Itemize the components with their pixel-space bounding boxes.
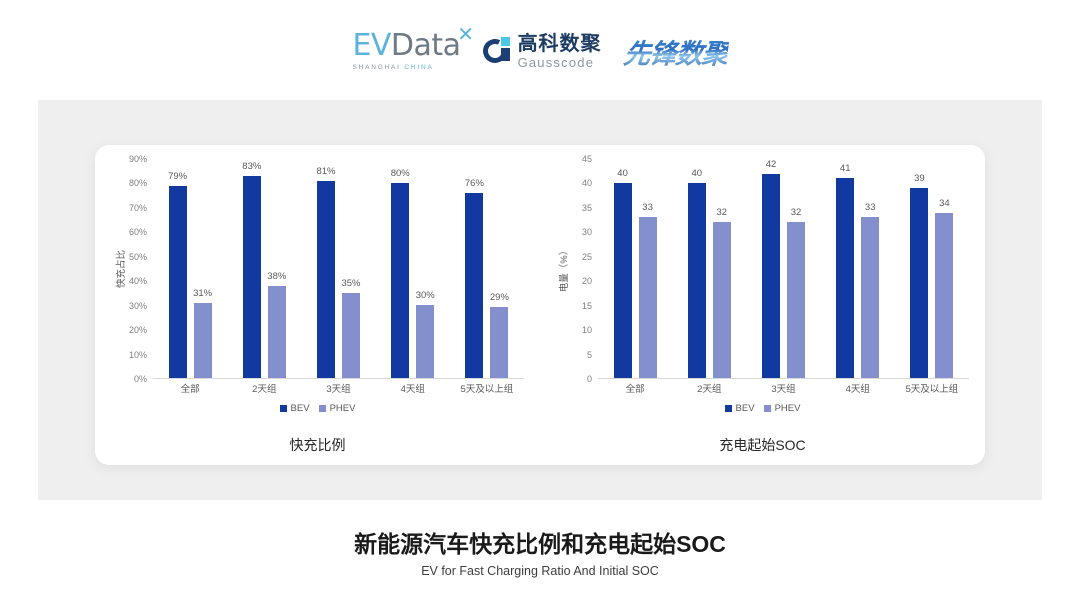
y-axis-tick: 30 (582, 227, 592, 237)
evdata-tagline-country: CHINA (404, 64, 433, 71)
y-axis-tick: 45 (582, 154, 592, 164)
bar-group: 80%30% (376, 159, 450, 378)
y-axis-tick: 20 (582, 276, 592, 286)
legend-left: BEVPHEV (95, 403, 540, 414)
y-axis-tick: 70% (129, 203, 147, 213)
chart-initial-soc: 电量（%） 051015202530354045 403340324232413… (540, 145, 985, 465)
evdata-logo: EVData ✕ SHANGHAI CHINA (352, 31, 460, 71)
bar-value-label: 76% (465, 178, 484, 189)
bar-phev[interactable]: 32 (713, 222, 731, 378)
y-axis-tick: 35 (582, 203, 592, 213)
y-axis-tick: 30% (129, 301, 147, 311)
y-axis-tick: 10% (129, 350, 147, 360)
bar-value-label: 83% (242, 161, 261, 172)
charts-card: 快充占比 0%10%20%30%40%50%60%70%80%90% 79%31… (95, 145, 985, 465)
bar-value-label: 40 (617, 168, 628, 179)
bar-group: 4133 (821, 159, 895, 378)
bar-bev[interactable]: 40 (614, 183, 632, 378)
bar-groups-left: 79%31%83%38%81%35%80%30%76%29% (153, 159, 524, 378)
y-axis-tick: 25 (582, 252, 592, 262)
bar-value-label: 38% (267, 271, 286, 282)
y-axis-tick: 10 (582, 325, 592, 335)
bars-region-left: 79%31%83%38%81%35%80%30%76%29% (153, 159, 524, 379)
x-axis-tick: 3天组 (301, 381, 375, 395)
y-axis-tick: 60% (129, 227, 147, 237)
x-axis-tick: 全部 (153, 381, 227, 395)
bar-bev[interactable]: 80% (391, 183, 409, 378)
gausscode-logo: 高科数聚 Gausscode (483, 34, 602, 69)
gausscode-english-name: Gausscode (518, 56, 602, 69)
page-title: 新能源汽车快充比例和充电起始SOC (0, 525, 1080, 559)
bar-phev[interactable]: 35% (342, 293, 360, 378)
evdata-tagline: SHANGHAI CHINA (352, 64, 433, 71)
y-axis-ticks-right: 051015202530354045 (558, 159, 592, 379)
bar-phev[interactable]: 34 (935, 213, 953, 378)
x-axis-tick: 5天及以上组 (450, 381, 524, 395)
x-axis-tick: 2天组 (672, 381, 746, 395)
bar-value-label: 41 (840, 163, 851, 174)
bar-value-label: 34 (939, 198, 950, 209)
bar-phev[interactable]: 30% (416, 305, 434, 378)
legend-item-phev[interactable]: PHEV (319, 403, 356, 414)
legend-swatch-icon (319, 405, 326, 412)
charts-row: 快充占比 0%10%20%30%40%50%60%70%80%90% 79%31… (95, 145, 985, 465)
legend-swatch-icon (764, 405, 771, 412)
legend-right: BEVPHEV (540, 403, 985, 414)
legend-item-bev[interactable]: BEV (280, 403, 310, 414)
legend-label: BEV (736, 403, 755, 414)
bar-value-label: 79% (168, 171, 187, 182)
y-axis-ticks-left: 0%10%20%30%40%50%60%70%80%90% (113, 159, 147, 379)
bar-group: 81%35% (301, 159, 375, 378)
legend-label: PHEV (775, 403, 801, 414)
gausscode-mark-icon (483, 37, 511, 65)
bar-phev[interactable]: 31% (194, 303, 212, 378)
y-axis-tick: 0% (134, 374, 147, 384)
x-axis-tick: 5天及以上组 (895, 381, 969, 395)
gausscode-chinese-name: 高科数聚 (518, 34, 602, 54)
y-axis-tick: 40% (129, 276, 147, 286)
bar-phev[interactable]: 38% (268, 286, 286, 378)
page-subtitle: EV for Fast Charging Ratio And Initial S… (0, 564, 1080, 578)
footer: 新能源汽车快充比例和充电起始SOC EV for Fast Charging R… (0, 525, 1080, 578)
bar-groups-right: 40334032423241333934 (598, 159, 969, 378)
y-axis-tick: 5 (587, 350, 592, 360)
y-axis-tick: 15 (582, 301, 592, 311)
bar-value-label: 30% (416, 290, 435, 301)
y-axis-tick: 80% (129, 178, 147, 188)
bar-bev[interactable]: 40 (688, 183, 706, 378)
bar-group: 4032 (672, 159, 746, 378)
bar-group: 4033 (598, 159, 672, 378)
bar-value-label: 40 (692, 168, 703, 179)
plot-area-right: 电量（%） 051015202530354045 403340324232413… (540, 159, 985, 379)
bar-bev[interactable]: 41 (836, 178, 854, 378)
bar-phev[interactable]: 33 (639, 217, 657, 378)
bar-bev[interactable]: 42 (762, 174, 780, 378)
legend-swatch-icon (280, 405, 287, 412)
y-axis-tick: 50% (129, 252, 147, 262)
x-axis-ticks-left: 全部2天组3天组4天组5天及以上组 (153, 381, 524, 395)
x-axis-tick: 2天组 (227, 381, 301, 395)
bar-phev[interactable]: 33 (861, 217, 879, 378)
bar-group: 83%38% (227, 159, 301, 378)
y-axis-tick: 20% (129, 325, 147, 335)
bar-value-label: 39 (914, 173, 925, 184)
bar-phev[interactable]: 32 (787, 222, 805, 378)
x-axis-tick: 4天组 (821, 381, 895, 395)
bar-group: 79%31% (153, 159, 227, 378)
bar-bev[interactable]: 81% (317, 181, 335, 378)
chart-caption-right: 充电起始SOC (540, 435, 985, 455)
bar-value-label: 32 (791, 207, 802, 218)
content-panel: 快充占比 0%10%20%30%40%50%60%70%80%90% 79%31… (38, 100, 1042, 500)
x-axis-tick: 3天组 (746, 381, 820, 395)
evdata-ev-text: EV (352, 28, 390, 63)
legend-swatch-icon (725, 405, 732, 412)
xianfeng-logo: 先锋数聚 (622, 32, 730, 71)
chart-caption-left: 快充比例 (95, 435, 540, 455)
y-axis-tick: 40 (582, 178, 592, 188)
legend-item-phev[interactable]: PHEV (764, 403, 801, 414)
evdata-data-text: Data (391, 28, 461, 63)
legend-label: BEV (291, 403, 310, 414)
bar-phev[interactable]: 29% (490, 307, 508, 378)
bar-bev[interactable]: 76% (465, 193, 483, 378)
x-axis-ticks-right: 全部2天组3天组4天组5天及以上组 (598, 381, 969, 395)
bar-bev[interactable]: 39 (910, 188, 928, 378)
chart-fast-charging-ratio: 快充占比 0%10%20%30%40%50%60%70%80%90% 79%31… (95, 145, 540, 465)
bar-value-label: 29% (490, 292, 509, 303)
evdata-tagline-city: SHANGHAI (352, 64, 404, 71)
bar-value-label: 42 (766, 159, 777, 170)
bar-value-label: 32 (717, 207, 728, 218)
legend-label: PHEV (330, 403, 356, 414)
legend-item-bev[interactable]: BEV (725, 403, 755, 414)
evdata-wordmark: EVData ✕ (352, 31, 460, 61)
y-axis-tick: 90% (129, 154, 147, 164)
x-axis-tick: 4天组 (376, 381, 450, 395)
x-axis-tick: 全部 (598, 381, 672, 395)
bar-value-label: 35% (341, 278, 360, 289)
bar-group: 4232 (746, 159, 820, 378)
bar-group: 76%29% (450, 159, 524, 378)
bars-region-right: 40334032423241333934 (598, 159, 969, 379)
evdata-x-icon: ✕ (457, 24, 473, 44)
bar-value-label: 81% (316, 166, 335, 177)
plot-area-left: 快充占比 0%10%20%30%40%50%60%70%80%90% 79%31… (95, 159, 540, 379)
y-axis-tick: 0 (587, 374, 592, 384)
bar-value-label: 80% (391, 168, 410, 179)
logo-header: EVData ✕ SHANGHAI CHINA 高科数聚 Gausscode 先… (0, 0, 1080, 96)
bar-bev[interactable]: 79% (169, 186, 187, 378)
bar-bev[interactable]: 83% (243, 176, 261, 378)
bar-value-label: 33 (642, 202, 653, 213)
bar-value-label: 33 (865, 202, 876, 213)
bar-group: 3934 (895, 159, 969, 378)
bar-value-label: 31% (193, 288, 212, 299)
